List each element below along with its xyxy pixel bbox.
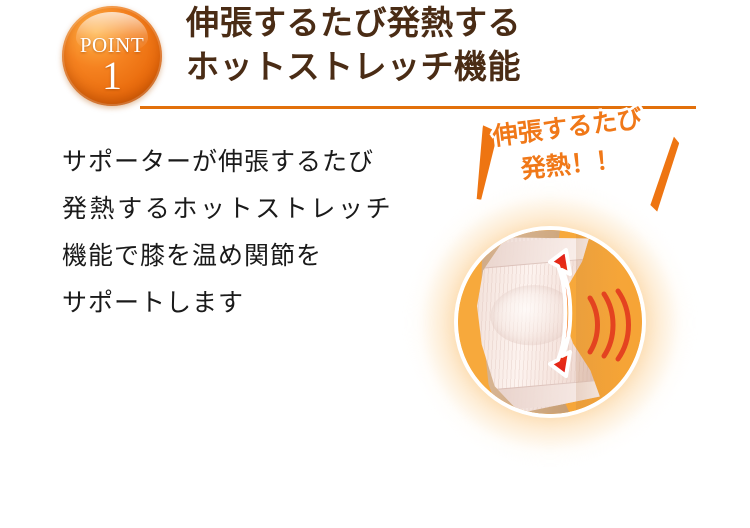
- body-line-1: サポーターが伸張するたび: [62, 138, 462, 185]
- point-1-feature-card: POINT 1 伸張するたび発熱する ホットストレッチ機能 サポーターが伸張する…: [0, 0, 750, 528]
- badge-point-number: 1: [62, 56, 162, 96]
- callout-text: 伸張するたび 発熱！！: [491, 120, 681, 187]
- knee-supporter-photo: [454, 226, 646, 418]
- body-line-2: 発熱するホットストレッチ: [62, 185, 462, 232]
- heat-wave-arcs-icon: [582, 288, 638, 362]
- section-heading: 伸張するたび発熱する ホットストレッチ機能: [186, 2, 726, 90]
- body-copy: サポーターが伸張するたび 発熱するホットストレッチ 機能で膝を温め関節を サポー…: [62, 138, 462, 326]
- heat-callout: 伸張するたび 発熱！！: [455, 120, 715, 225]
- heading-line-1: 伸張するたび発熱する: [186, 2, 726, 46]
- point-badge: POINT 1: [62, 6, 162, 106]
- body-line-3: 機能で膝を温め関節を: [62, 232, 462, 279]
- photo-inner: [458, 230, 642, 414]
- body-line-4: サポートします: [62, 279, 462, 326]
- heading-line-2: ホットストレッチ機能: [186, 46, 726, 90]
